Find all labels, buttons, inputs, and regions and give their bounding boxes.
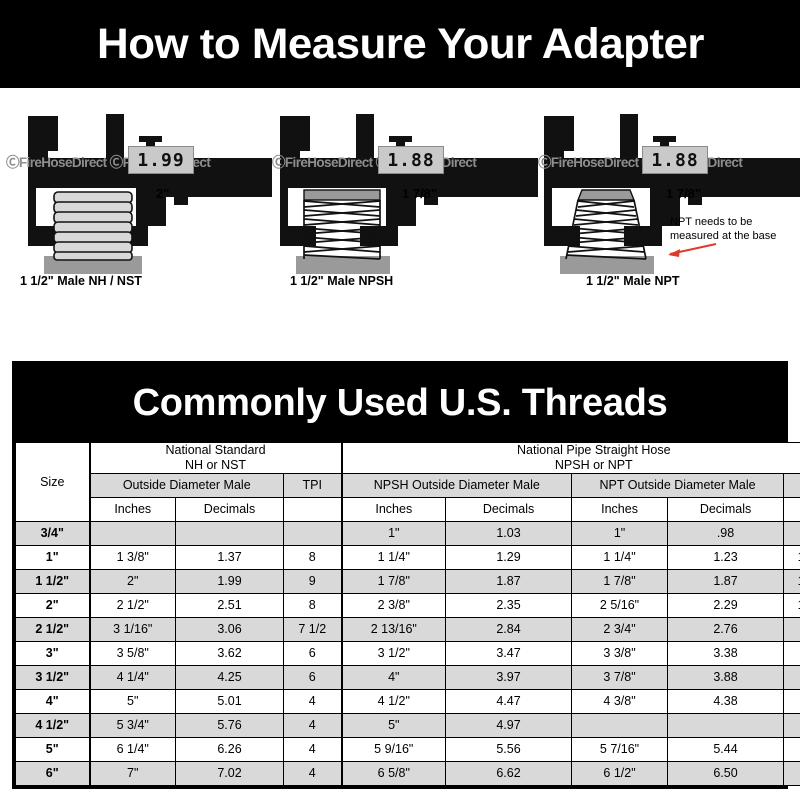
- cell-npsh-decimals: 4.47: [446, 689, 572, 713]
- cell-npsh-decimals: 3.47: [446, 641, 572, 665]
- table-header-unit-row: Inches Decimals Inches Decimals Inches D…: [16, 497, 800, 521]
- table-row: 4"5"5.0144 1/2"4.474 3/8"4.388: [16, 689, 800, 713]
- cell-npsh-decimals: 2.35: [446, 593, 572, 617]
- cell-npt-decimals: 1.23: [668, 545, 784, 569]
- cell-npsh-inches: 1 7/8": [342, 569, 446, 593]
- cell-npt-inches: 6 1/2": [572, 761, 668, 785]
- cell-size: 1": [16, 545, 90, 569]
- header-npsh-decimals: Decimals: [446, 497, 572, 521]
- cell-np-tpi: 8: [784, 713, 800, 737]
- cell-npsh-decimals: 3.97: [446, 665, 572, 689]
- cell-np-tpi: 8: [784, 617, 800, 641]
- measurement-label: 2": [156, 186, 169, 201]
- cell-ns-decimals: [176, 521, 284, 545]
- npt-note: NPT needs to be measured at the base: [670, 216, 776, 244]
- cell-npt-inches: 4 3/8": [572, 689, 668, 713]
- cell-size: 6": [16, 761, 90, 785]
- cell-np-tpi: 8: [784, 689, 800, 713]
- cell-ns-decimals: 1.99: [176, 569, 284, 593]
- table-row: 5"6 1/4"6.2645 9/16"5.565 7/16"5.448: [16, 737, 800, 761]
- cell-size: 2": [16, 593, 90, 617]
- cell-npsh-decimals: 6.62: [446, 761, 572, 785]
- table-row: 2"2 1/2"2.5182 3/8"2.352 5/16"2.2911 1/2: [16, 593, 800, 617]
- header-size: Size: [16, 443, 90, 522]
- cell-ns-inches: 7": [90, 761, 176, 785]
- cell-ns-decimals: 1.37: [176, 545, 284, 569]
- cell-ns-decimals: 6.26: [176, 737, 284, 761]
- lcd-reading: 1.88: [387, 150, 434, 171]
- caliper-lcd-display: 1.99: [128, 146, 194, 174]
- header-npt-inches: Inches: [572, 497, 668, 521]
- cell-ns-tpi: 4: [284, 713, 342, 737]
- cell-size: 4": [16, 689, 90, 713]
- cell-npsh-inches: 2 13/16": [342, 617, 446, 641]
- cell-ns-inches: 3 1/16": [90, 617, 176, 641]
- header-ns-tpi: TPI: [284, 473, 342, 497]
- page-title: How to Measure Your Adapter: [97, 20, 704, 69]
- table-row: 4 1/2"5 3/4"5.7645"4.978: [16, 713, 800, 737]
- npt-note-line-1: NPT needs to be: [670, 216, 776, 230]
- cell-ns-inches: 2 1/2": [90, 593, 176, 617]
- cell-npsh-inches: 4": [342, 665, 446, 689]
- cell-ns-decimals: 7.02: [176, 761, 284, 785]
- cell-ns-decimals: 2.51: [176, 593, 284, 617]
- cell-ns-tpi: 7 1/2: [284, 617, 342, 641]
- cell-npt-decimals: 6.50: [668, 761, 784, 785]
- page-title-bar: How to Measure Your Adapter: [0, 0, 800, 88]
- cell-ns-tpi: 8: [284, 545, 342, 569]
- cell-ns-tpi: 6: [284, 665, 342, 689]
- cell-npt-decimals: 1.87: [668, 569, 784, 593]
- header-ns-inches: Inches: [90, 497, 176, 521]
- cell-ns-decimals: 3.62: [176, 641, 284, 665]
- caliper-lcd-display: 1.88: [642, 146, 708, 174]
- cell-np-tpi: 14: [784, 521, 800, 545]
- figure-caption: 1 1/2" Male NPT: [586, 274, 679, 288]
- table-row: 1 1/2"2"1.9991 7/8"1.871 7/8"1.8711 1/2: [16, 569, 800, 593]
- header-group-ns-line1: National Standard: [91, 443, 341, 458]
- cell-npsh-inches: 5": [342, 713, 446, 737]
- cell-size: 5": [16, 737, 90, 761]
- cell-ns-inches: 2": [90, 569, 176, 593]
- cell-npsh-inches: 5 9/16": [342, 737, 446, 761]
- cell-ns-decimals: 4.25: [176, 665, 284, 689]
- cell-npsh-decimals: 1.29: [446, 545, 572, 569]
- cell-npt-decimals: 4.38: [668, 689, 784, 713]
- cell-npsh-inches: 2 3/8": [342, 593, 446, 617]
- cell-npt-inches: 3 3/8": [572, 641, 668, 665]
- header-ns-outside-diameter: Outside Diameter Male: [90, 473, 284, 497]
- cell-ns-tpi: [284, 521, 342, 545]
- cell-ns-inches: 1 3/8": [90, 545, 176, 569]
- cell-size: 3 1/2": [16, 665, 90, 689]
- header-group-national-pipe: National Pipe Straight Hose NPSH or NPT: [342, 443, 800, 474]
- cell-ns-tpi: 6: [284, 641, 342, 665]
- header-ns-decimals: Decimals: [176, 497, 284, 521]
- header-np-tpi: TPI: [784, 473, 800, 497]
- table-header-group-row: Size National Standard NH or NST Nationa…: [16, 443, 800, 474]
- table-row: 3/4"1"1.031".9814: [16, 521, 800, 545]
- caliper-figure-npsh: ⒸFireHoseDirect ⒸFireHoseDirect 1.88 1 7…: [272, 88, 538, 360]
- npt-note-line-2: measured at the base: [670, 230, 776, 244]
- table-title-bar: Commonly Used U.S. Threads: [15, 364, 785, 442]
- cell-npt-inches: 5 7/16": [572, 737, 668, 761]
- cell-npt-inches: 3 7/8": [572, 665, 668, 689]
- caliper-lcd-display: 1.88: [378, 146, 444, 174]
- caliper-figure-nh-nst: ⒸFireHoseDirect ⒸFireHoseDirect 1.99 2" …: [6, 88, 272, 360]
- cell-ns-inches: 5": [90, 689, 176, 713]
- header-npt-outside-diameter: NPT Outside Diameter Male: [572, 473, 784, 497]
- table-row: 1"1 3/8"1.3781 1/4"1.291 1/4"1.2311 1/2: [16, 545, 800, 569]
- cell-npt-inches: 1 7/8": [572, 569, 668, 593]
- cell-npsh-decimals: 1.87: [446, 569, 572, 593]
- cell-ns-inches: 3 5/8": [90, 641, 176, 665]
- header-npt-decimals: Decimals: [668, 497, 784, 521]
- cell-npsh-inches: 3 1/2": [342, 641, 446, 665]
- header-group-national-standard: National Standard NH or NST: [90, 443, 342, 474]
- header-group-ns-line2: NH or NST: [91, 458, 341, 473]
- header-group-np-line2: NPSH or NPT: [343, 458, 800, 473]
- cell-np-tpi: 8: [784, 737, 800, 761]
- caliper-figure-npt: ⒸFireHoseDirect ⒸFireHoseDirect 1.88 1 7…: [538, 88, 800, 360]
- measurement-label: 1 7/8": [666, 186, 701, 201]
- cell-npt-decimals: 2.76: [668, 617, 784, 641]
- cell-ns-decimals: 3.06: [176, 617, 284, 641]
- threads-table: Size National Standard NH or NST Nationa…: [15, 442, 800, 786]
- cell-np-tpi: 11 1/2: [784, 569, 800, 593]
- table-row: 6"7"7.0246 5/8"6.626 1/2"6.508: [16, 761, 800, 785]
- table-row: 3"3 5/8"3.6263 1/2"3.473 3/8"3.388: [16, 641, 800, 665]
- cell-npt-inches: 1": [572, 521, 668, 545]
- cell-np-tpi: 8: [784, 665, 800, 689]
- cell-npt-decimals: [668, 713, 784, 737]
- cell-npt-decimals: 2.29: [668, 593, 784, 617]
- threads-table-body: 3/4"1"1.031".98141"1 3/8"1.3781 1/4"1.29…: [16, 521, 800, 785]
- threads-table-block: Commonly Used U.S. Threads Size National…: [12, 361, 788, 789]
- cell-ns-tpi: 8: [284, 593, 342, 617]
- measurement-label: 1 7/8": [402, 186, 437, 201]
- cell-npt-decimals: .98: [668, 521, 784, 545]
- red-arrow-icon: [668, 244, 716, 257]
- header-np-tpi-blank: [784, 497, 800, 521]
- cell-ns-decimals: 5.01: [176, 689, 284, 713]
- table-title: Commonly Used U.S. Threads: [133, 382, 668, 425]
- cell-size: 1 1/2": [16, 569, 90, 593]
- header-group-np-line1: National Pipe Straight Hose: [343, 443, 800, 458]
- diagram-band: ⒸFireHoseDirect ⒸFireHoseDirect 1.99 2" …: [0, 88, 800, 360]
- cell-npt-inches: [572, 713, 668, 737]
- cell-npsh-decimals: 4.97: [446, 713, 572, 737]
- cell-ns-decimals: 5.76: [176, 713, 284, 737]
- cell-npt-inches: 2 5/16": [572, 593, 668, 617]
- header-npsh-outside-diameter: NPSH Outside Diameter Male: [342, 473, 572, 497]
- cell-ns-inches: [90, 521, 176, 545]
- cell-np-tpi: 11 1/2: [784, 593, 800, 617]
- header-npsh-inches: Inches: [342, 497, 446, 521]
- cell-npt-decimals: 5.44: [668, 737, 784, 761]
- cell-npsh-inches: 1 1/4": [342, 545, 446, 569]
- cell-npsh-inches: 1": [342, 521, 446, 545]
- cell-npsh-decimals: 5.56: [446, 737, 572, 761]
- cell-npsh-inches: 6 5/8": [342, 761, 446, 785]
- cell-size: 3": [16, 641, 90, 665]
- cell-size: 4 1/2": [16, 713, 90, 737]
- cell-npsh-decimals: 2.84: [446, 617, 572, 641]
- cell-npsh-decimals: 1.03: [446, 521, 572, 545]
- figure-caption: 1 1/2" Male NPSH: [290, 274, 393, 288]
- table-row: 3 1/2"4 1/4"4.2564"3.973 7/8"3.888: [16, 665, 800, 689]
- cell-ns-inches: 5 3/4": [90, 713, 176, 737]
- cell-size: 2 1/2": [16, 617, 90, 641]
- cell-ns-inches: 4 1/4": [90, 665, 176, 689]
- cell-ns-tpi: 4: [284, 737, 342, 761]
- cell-npt-decimals: 3.38: [668, 641, 784, 665]
- cell-ns-tpi: 4: [284, 761, 342, 785]
- caliper-diagram-icon: [6, 106, 272, 286]
- cell-ns-tpi: 4: [284, 689, 342, 713]
- cell-np-tpi: 8: [784, 761, 800, 785]
- cell-npsh-inches: 4 1/2": [342, 689, 446, 713]
- table-header-sub-row: Outside Diameter Male TPI NPSH Outside D…: [16, 473, 800, 497]
- cell-npt-inches: 1 1/4": [572, 545, 668, 569]
- table-row: 2 1/2"3 1/16"3.067 1/22 13/16"2.842 3/4"…: [16, 617, 800, 641]
- figure-caption: 1 1/2" Male NH / NST: [20, 274, 142, 288]
- cell-npt-inches: 2 3/4": [572, 617, 668, 641]
- lcd-reading: 1.88: [651, 150, 698, 171]
- header-ns-tpi-blank: [284, 497, 342, 521]
- cell-ns-tpi: 9: [284, 569, 342, 593]
- cell-np-tpi: 11 1/2: [784, 545, 800, 569]
- cell-size: 3/4": [16, 521, 90, 545]
- cell-ns-inches: 6 1/4": [90, 737, 176, 761]
- cell-npt-decimals: 3.88: [668, 665, 784, 689]
- lcd-reading: 1.99: [137, 150, 184, 171]
- cell-np-tpi: 8: [784, 641, 800, 665]
